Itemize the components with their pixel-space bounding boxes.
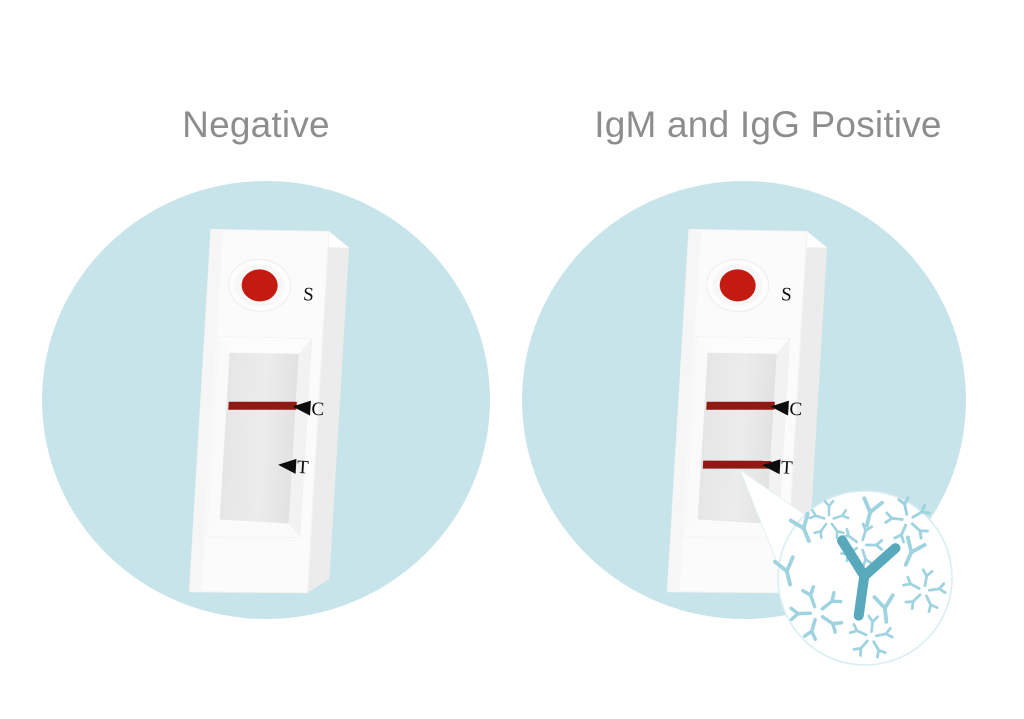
sample-well-label: S	[781, 284, 793, 306]
figure-canvas: Negative	[0, 0, 1024, 719]
test-strip	[220, 350, 299, 524]
control-marker-label: C	[311, 399, 325, 421]
panel-positive: IgM and IgG Positive	[512, 0, 1024, 719]
positive-scene: C T S	[512, 0, 1024, 719]
test-marker-label: T	[296, 457, 309, 479]
test-marker-label: T	[780, 457, 793, 479]
test-cassette: C T S	[189, 224, 350, 600]
negative-scene: C T S	[0, 0, 512, 719]
control-marker-label: C	[789, 399, 803, 421]
sample-well-label: S	[303, 284, 315, 306]
panel-negative: Negative	[0, 0, 512, 719]
